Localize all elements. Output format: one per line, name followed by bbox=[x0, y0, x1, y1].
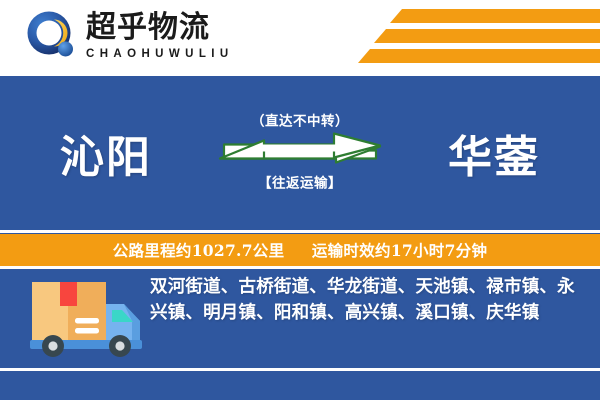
footer-divider bbox=[0, 368, 600, 371]
infobar-top-divider bbox=[0, 230, 600, 233]
origin-city: 沁阳 bbox=[60, 121, 152, 185]
truck-illustration bbox=[0, 270, 150, 367]
delivery-truck-icon bbox=[26, 276, 148, 362]
route-section: 沁阳 （直达不中转） 【往返运输】 华蓥 bbox=[0, 76, 600, 230]
brand-name-cn: 超乎物流 bbox=[86, 11, 234, 45]
brand-logo: 超乎物流 CHAOHUWULIU bbox=[24, 8, 234, 64]
brand-name-en: CHAOHUWULIU bbox=[86, 47, 234, 61]
infobar-bottom-divider bbox=[0, 266, 600, 269]
road-distance-value: 公路里程约1027.7公里 bbox=[113, 241, 285, 260]
info-bar-text: 公路里程约1027.7公里 运输时效约17小时7分钟 bbox=[113, 239, 488, 261]
double-headed-arrow-icon bbox=[218, 133, 382, 173]
direct-service-note: （直达不中转） bbox=[200, 114, 400, 131]
covered-towns-list: 双河街道、古桥街道、华龙街道、天池镇、禄市镇、永兴镇、明月镇、阳和镇、高兴镇、溪… bbox=[150, 270, 600, 326]
header-bar: 超乎物流 CHAOHUWULIU bbox=[0, 0, 600, 72]
distance-duration-bar: 公路里程约1027.7公里 运输时效约17小时7分钟 bbox=[0, 234, 600, 266]
circle-crescent-logo-icon bbox=[24, 8, 80, 64]
coverage-section: 双河街道、古桥街道、华龙街道、天池镇、禄市镇、永兴镇、明月镇、阳和镇、高兴镇、溪… bbox=[0, 270, 600, 366]
route-arrow-group: （直达不中转） 【往返运输】 bbox=[200, 114, 400, 193]
brand-text: 超乎物流 CHAOHUWULIU bbox=[86, 11, 234, 61]
transit-time-value: 运输时效约17小时7分钟 bbox=[312, 241, 487, 260]
orange-speed-stripes-icon bbox=[340, 9, 600, 65]
destination-city: 华蓥 bbox=[448, 121, 540, 185]
logistics-route-banner: 超乎物流 CHAOHUWULIU 沁阳 （直达不中转） 【往返运输】 华蓥 bbox=[0, 0, 600, 400]
round-trip-note: 【往返运输】 bbox=[200, 176, 400, 193]
